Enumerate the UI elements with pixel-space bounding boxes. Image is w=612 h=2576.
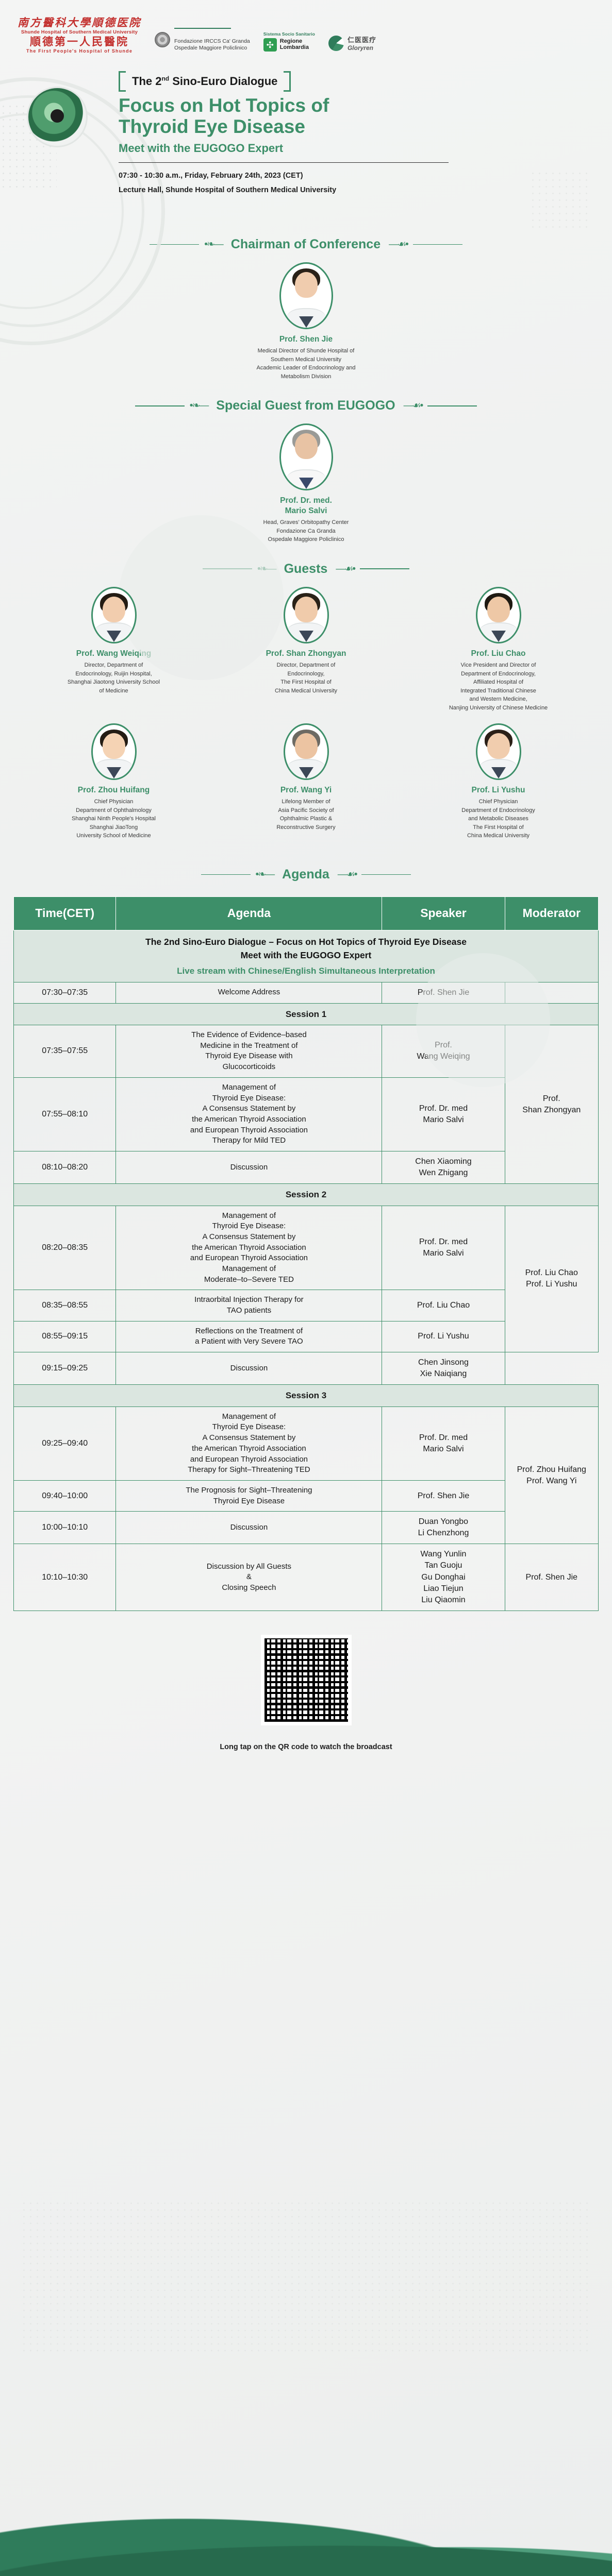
qr-code[interactable] <box>261 1635 352 1725</box>
table-row: 08:20–08:35Management of Thyroid Eye Dis… <box>14 1206 599 1290</box>
avatar <box>476 587 521 643</box>
cell-agenda: Intraorbital Injection Therapy for TAO p… <box>116 1290 382 1321</box>
logo-irccs-line2: Ospedale Maggiore Policlinico <box>174 45 250 52</box>
cell-moderator <box>505 982 598 1003</box>
column-header: Time(CET) <box>14 896 116 930</box>
cell-agenda: Discussion <box>116 1512 382 1544</box>
cell-agenda: Reflections on the Treatment of a Patien… <box>116 1321 382 1352</box>
cell-time: 08:55–09:15 <box>14 1321 116 1352</box>
divider <box>360 568 409 569</box>
guest-card: Prof. Shan ZhongyanDirector, Department … <box>214 587 398 721</box>
logo-header: 南方醫科大學順德医院 Shunde Hospital of Southern M… <box>0 0 612 60</box>
person-bio: Director, Department of Endocrinology, T… <box>231 661 381 695</box>
cell-agenda: The Evidence of Evidence–based Medicine … <box>116 1025 382 1078</box>
agenda-table: Time(CET)AgendaSpeakerModerator The 2nd … <box>13 896 599 1611</box>
person-bio: Chief Physician Department of Ophthalmol… <box>39 798 189 840</box>
logo-smu-en-line1: Shunde Hospital of Southern Medical Univ… <box>21 30 138 35</box>
divider <box>203 568 252 569</box>
logo-gloryren: 仁医医疗 Gloryren <box>328 35 376 54</box>
ornament-icon: —☙• <box>404 401 423 411</box>
ornament-icon: —☙• <box>336 564 355 574</box>
session-row: Session 2 <box>14 1184 599 1206</box>
qr-caption: Long tap on the QR code to watch the bro… <box>0 1743 612 1751</box>
logo-gloryren-en: Gloryren <box>348 44 376 52</box>
logo-regione-top: Sistema Socio Sanitario <box>263 31 315 37</box>
footer-wave-decor <box>0 2499 612 2576</box>
swirl-icon <box>328 36 344 51</box>
hero-section: The 2nd Sino-Euro Dialogue Focus on Hot … <box>0 60 612 219</box>
event-datetime: 07:30 - 10:30 a.m., Friday, February 24t… <box>119 169 586 183</box>
divider <box>150 244 199 245</box>
person-name: Prof. Li Yushu <box>406 785 590 795</box>
avatar <box>476 723 521 780</box>
cell-agenda: The Prognosis for Sight–Threatening Thyr… <box>116 1480 382 1511</box>
avatar <box>91 587 137 643</box>
eye-illustration-icon <box>27 87 88 147</box>
page-title-line2: Thyroid Eye Disease <box>119 116 586 137</box>
cell-time: 08:35–08:55 <box>14 1290 116 1321</box>
person-name: Prof. Shan Zhongyan <box>214 649 398 658</box>
cell-speaker: Prof. Shen Jie <box>382 1480 505 1511</box>
divider <box>427 405 477 406</box>
agenda-table-wrap: Time(CET)AgendaSpeakerModerator The 2nd … <box>0 892 612 1611</box>
page-title-line1: Focus on Hot Topics of <box>119 95 586 116</box>
event-kicker: The 2nd Sino-Euro Dialogue <box>119 71 586 92</box>
cell-agenda: Management of Thyroid Eye Disease: A Con… <box>116 1206 382 1290</box>
cell-agenda: Management of Thyroid Eye Disease: A Con… <box>116 1077 382 1151</box>
banner-cell: The 2nd Sino-Euro Dialogue – Focus on Ho… <box>14 930 599 982</box>
bracket-right-decor <box>284 71 291 92</box>
avatar <box>284 723 329 780</box>
page-subtitle: Meet with the EUGOGO Expert <box>119 142 586 155</box>
column-header: Moderator <box>505 896 598 930</box>
table-row: 07:30–07:35Welcome AddressProf. Shen Jie <box>14 982 599 1003</box>
ornament-icon: —☙• <box>338 870 357 879</box>
cell-speaker: Chen Xiaoming Wen Zhigang <box>382 1151 505 1183</box>
agenda-table-body: The 2nd Sino-Euro Dialogue – Focus on Ho… <box>14 930 599 1611</box>
cell-agenda: Discussion <box>116 1352 382 1385</box>
logo-fondazione-irccs: Fondazione IRCCS Ca' Granda Ospedale Mag… <box>155 28 250 54</box>
cell-speaker: Wang Yunlin Tan Guoju Gu Donghai Liao Ti… <box>382 1544 505 1611</box>
cell-time: 08:10–08:20 <box>14 1151 116 1183</box>
cell-moderator: Prof. Shen Jie <box>505 1544 598 1611</box>
person-bio: Head, Graves’ Orbitopathy Center Fondazi… <box>213 518 399 544</box>
avatar <box>91 723 137 780</box>
cell-moderator: Prof. Shan Zhongyan <box>505 1025 598 1184</box>
logo-smu-cn-line2: 順德第一人民醫院 <box>30 37 129 47</box>
session-label: Session 1 <box>14 1003 599 1025</box>
logo-smu-en-line2: The First People's Hospital of Shunde <box>26 49 133 54</box>
cell-time: 07:35–07:55 <box>14 1025 116 1078</box>
cell-moderator: Prof. Liu Chao Prof. Li Yushu <box>505 1206 598 1352</box>
person-bio: Medical Director of Shunde Hospital of S… <box>213 347 399 381</box>
person-name: Prof. Wang Weiqing <box>22 649 206 658</box>
kicker-text: The 2nd Sino-Euro Dialogue <box>126 75 284 88</box>
cell-time: 07:30–07:35 <box>14 982 116 1003</box>
event-venue: Lecture Hall, Shunde Hospital of Souther… <box>119 183 586 198</box>
person-bio: Chief Physician Department of Endocrinol… <box>424 798 573 840</box>
cell-agenda: Welcome Address <box>116 982 382 1003</box>
person-bio: Vice President and Director of Departmen… <box>424 661 573 712</box>
person-name: Prof. Zhou Huifang <box>22 785 206 795</box>
person-name: Prof. Shen Jie <box>213 334 399 344</box>
guest-card: Prof. Wang YiLifelong Member of Asia Pac… <box>214 723 398 850</box>
ornament-icon: •❧— <box>257 564 276 574</box>
table-row: 07:35–07:55The Evidence of Evidence–base… <box>14 1025 599 1078</box>
cell-time: 08:20–08:35 <box>14 1206 116 1290</box>
agenda-table-head: Time(CET)AgendaSpeakerModerator <box>14 896 599 930</box>
column-header: Speaker <box>382 896 505 930</box>
chairman-card: Prof. Shen Jie Medical Director of Shund… <box>213 262 399 381</box>
logo-regione-line2: Lombardia <box>280 45 309 51</box>
guest-card: Prof. Wang WeiqingDirector, Department o… <box>22 587 206 721</box>
bracket-left-decor <box>119 71 126 92</box>
person-name: Prof. Wang Yi <box>214 785 398 795</box>
section-header-agenda: •❧— Agenda —☙• <box>0 867 612 882</box>
cell-speaker: Prof. Liu Chao <box>382 1290 505 1321</box>
section-header-chairman: •❧— Chairman of Conference —☙• <box>0 237 612 252</box>
cell-time: 07:55–08:10 <box>14 1077 116 1151</box>
session-row: Session 3 <box>14 1385 599 1406</box>
person-bio: Lifelong Member of Asia Pacific Society … <box>231 798 381 832</box>
person-bio: Director, Department of Endocrinology, R… <box>39 661 189 695</box>
seal-icon <box>155 32 170 47</box>
cell-time: 10:00–10:10 <box>14 1512 116 1544</box>
cell-time: 09:25–09:40 <box>14 1406 116 1480</box>
divider <box>361 874 411 875</box>
column-header: Agenda <box>116 896 382 930</box>
footer: Long tap on the QR code to watch the bro… <box>0 1611 612 1751</box>
avatar <box>279 423 333 490</box>
special-guest-card: Prof. Dr. med. Mario Salvi Head, Graves’… <box>213 423 399 544</box>
cell-moderator: Prof. Zhou Huifang Prof. Wang Yi <box>505 1406 598 1544</box>
table-row: 09:25–09:40Management of Thyroid Eye Dis… <box>14 1406 599 1480</box>
logo-regione-lombardia: Sistema Socio Sanitario ✣ Regione Lombar… <box>263 31 315 54</box>
cell-speaker: Duan Yongbo Li Chenzhong <box>382 1512 505 1544</box>
cell-agenda: Discussion <box>116 1151 382 1183</box>
cell-speaker: Prof. Li Yushu <box>382 1321 505 1352</box>
session-label: Session 3 <box>14 1385 599 1406</box>
section-title: Agenda <box>279 867 333 882</box>
section-title: Special Guest from EUGOGO <box>213 398 398 413</box>
guest-grid: Prof. Wang WeiqingDirector, Department o… <box>0 587 612 850</box>
divider <box>174 28 231 29</box>
section-header-special-guest: •❧— Special Guest from EUGOGO —☙• <box>0 398 612 413</box>
cell-agenda: Discussion by All Guests & Closing Speec… <box>116 1544 382 1611</box>
logo-smu-cn-line1: 南方醫科大學順德医院 <box>18 18 141 28</box>
cell-time: 09:15–09:25 <box>14 1352 116 1385</box>
cell-time: 09:40–10:00 <box>14 1480 116 1511</box>
qr-code-image <box>264 1638 348 1722</box>
section-header-guests: •❧— Guests —☙• <box>0 562 612 577</box>
session-row: Session 1 <box>14 1003 599 1025</box>
table-header-row: Time(CET)AgendaSpeakerModerator <box>14 896 599 930</box>
cell-speaker: Prof. Dr. med Mario Salvi <box>382 1206 505 1290</box>
dot-grid-decor <box>21 2200 588 2354</box>
ornament-icon: •❧— <box>204 240 223 249</box>
ornament-icon: —☙• <box>389 240 408 249</box>
person-name: Prof. Liu Chao <box>406 649 590 658</box>
logo-irccs-line1: Fondazione IRCCS Ca' Granda <box>174 38 250 45</box>
logo-shunde-hospital: 南方醫科大學順德医院 Shunde Hospital of Southern M… <box>18 18 141 54</box>
conference-poster: 南方醫科大學順德医院 Shunde Hospital of Southern M… <box>0 0 612 2576</box>
cell-speaker: Prof. Dr. med Mario Salvi <box>382 1406 505 1480</box>
clover-icon: ✣ <box>263 38 277 52</box>
divider <box>135 405 185 406</box>
section-title: Guests <box>281 562 331 577</box>
avatar <box>279 262 333 329</box>
guest-card: Prof. Liu ChaoVice President and Directo… <box>406 587 590 721</box>
cell-agenda: Management of Thyroid Eye Disease: A Con… <box>116 1406 382 1480</box>
ornament-icon: •❧— <box>256 870 274 879</box>
guest-card: Prof. Zhou HuifangChief Physician Depart… <box>22 723 206 850</box>
avatar <box>284 587 329 643</box>
cell-speaker: Prof. Shen Jie <box>382 982 505 1003</box>
session-label: Session 2 <box>14 1184 599 1206</box>
cell-speaker: Prof. Wang Weiqing <box>382 1025 505 1078</box>
table-row: 10:10–10:30Discussion by All Guests & Cl… <box>14 1544 599 1611</box>
footer-wave-decor <box>0 2442 612 2576</box>
logo-gloryren-cn: 仁医医疗 <box>348 35 376 44</box>
divider <box>413 244 462 245</box>
cell-speaker: Prof. Dr. med Mario Salvi <box>382 1077 505 1151</box>
cell-speaker: Chen Jinsong Xie Naiqiang <box>382 1352 505 1385</box>
divider <box>201 874 251 875</box>
guest-card: Prof. Li YushuChief Physician Department… <box>406 723 590 850</box>
person-name: Prof. Dr. med. Mario Salvi <box>213 496 399 516</box>
cell-time: 10:10–10:30 <box>14 1544 116 1611</box>
ornament-icon: •❧— <box>190 401 208 411</box>
section-title: Chairman of Conference <box>228 237 384 252</box>
table-banner-row: The 2nd Sino-Euro Dialogue – Focus on Ho… <box>14 930 599 982</box>
divider <box>119 162 449 163</box>
table-row: 09:15–09:25DiscussionChen Jinsong Xie Na… <box>14 1352 599 1385</box>
